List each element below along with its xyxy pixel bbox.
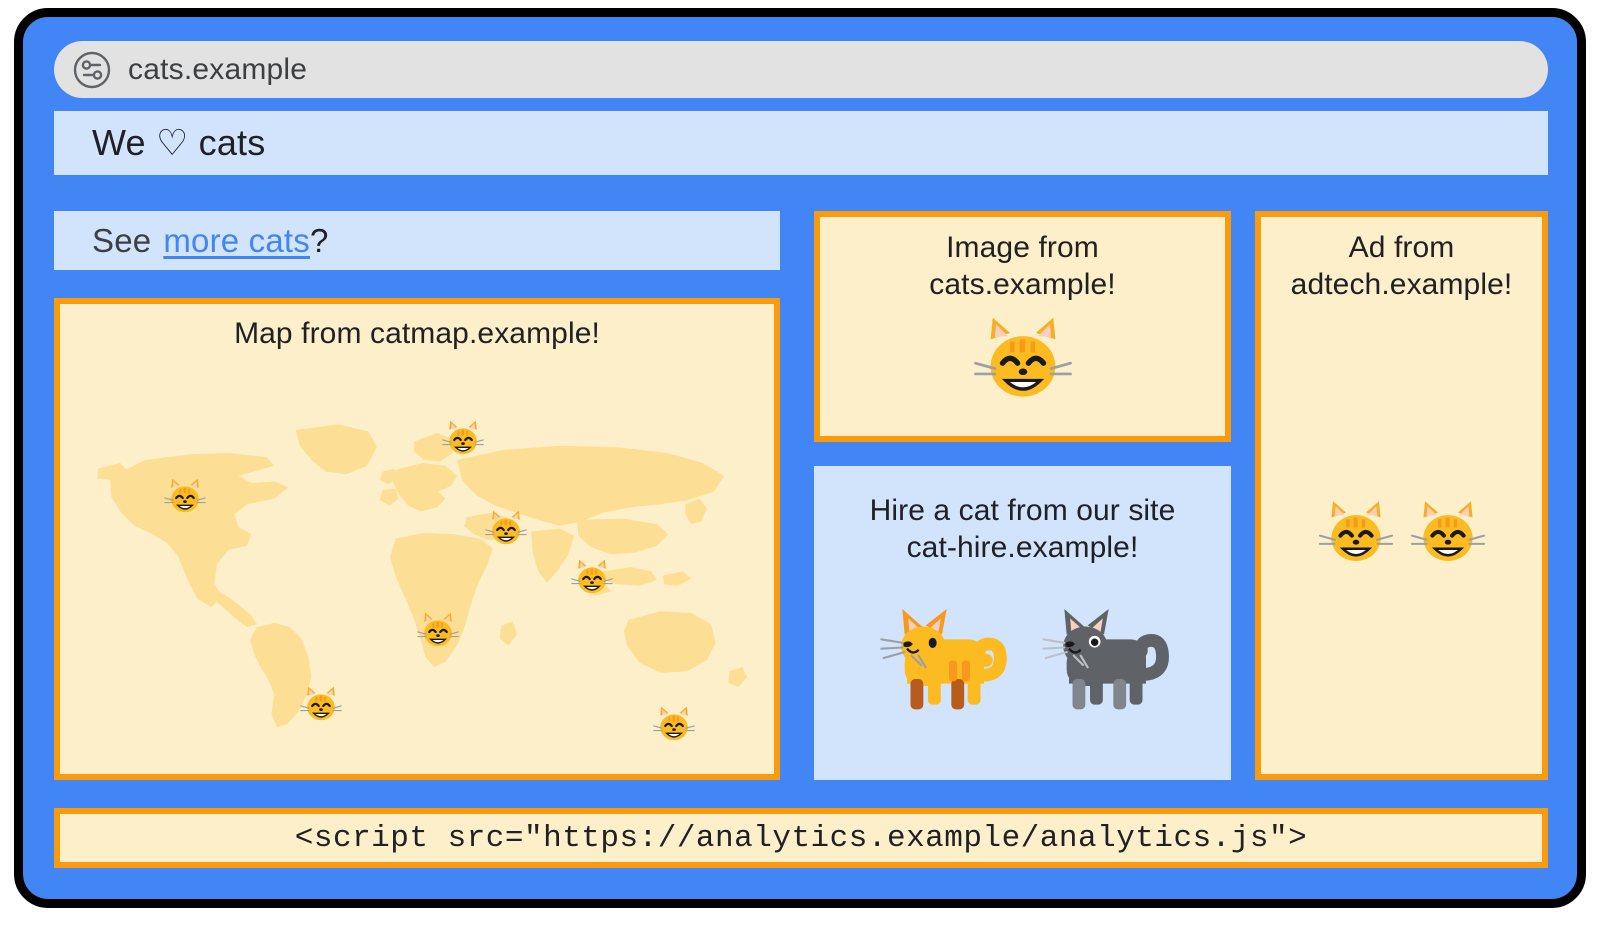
see-more-cats-banner: Seemore cats? (54, 211, 780, 270)
hire-panel-title-line1: Hire a cat from our site (870, 492, 1176, 529)
analytics-script-bar: <script src="https://analytics.example/a… (54, 808, 1548, 868)
map-marker-cat[interactable] (483, 506, 529, 552)
map-marker-cat[interactable] (162, 474, 208, 520)
map-marker-cat[interactable] (298, 682, 344, 728)
script-tag-code: <script src="https://analytics.example/a… (295, 821, 1307, 856)
map-marker-cat[interactable] (415, 608, 461, 654)
grey-cat-icon (1034, 588, 1174, 728)
map-marker-cat[interactable] (569, 555, 615, 601)
link-prefix-label: See (92, 222, 151, 260)
image-panel-title-line1: Image from (929, 229, 1115, 266)
url-text[interactable]: cats.example (128, 55, 307, 85)
headline-banner: We ♡ cats (54, 111, 1548, 175)
ad-panel[interactable]: Ad from adtech.example! (1255, 211, 1548, 780)
ad-cats-row (1261, 493, 1542, 575)
image-panel[interactable]: Image from cats.example! (814, 211, 1231, 442)
more-cats-link[interactable]: more cats (163, 222, 310, 260)
image-panel-title-line2: cats.example! (929, 266, 1115, 303)
hire-panel[interactable]: Hire a cat from our site cat-hire.exampl… (814, 466, 1231, 780)
hire-panel-title-line2: cat-hire.example! (870, 529, 1176, 566)
map-panel[interactable]: Map from catmap.example! (54, 298, 780, 780)
map-marker-cat[interactable] (440, 416, 486, 462)
browser-window: cats.example We ♡ cats Seemore cats? Map… (14, 8, 1586, 908)
hire-cats-row (872, 588, 1174, 728)
tune-icon[interactable] (72, 50, 112, 90)
world-map[interactable] (60, 366, 774, 774)
ad-panel-title: Ad from adtech.example! (1291, 229, 1513, 303)
page-headline: We ♡ cats (92, 122, 265, 164)
ad-panel-title-line2: adtech.example! (1291, 266, 1513, 303)
grinning-cat-icon (1315, 493, 1397, 575)
url-bar[interactable]: cats.example (54, 41, 1548, 98)
image-panel-title: Image from cats.example! (929, 229, 1115, 303)
grinning-cat-icon (969, 307, 1077, 415)
map-panel-title: Map from catmap.example! (60, 315, 774, 352)
link-suffix-label: ? (310, 222, 329, 260)
map-marker-cat[interactable] (651, 702, 697, 748)
grinning-cat-icon (1407, 493, 1489, 575)
orange-cat-icon (872, 588, 1012, 728)
ad-panel-title-line1: Ad from (1291, 229, 1513, 266)
hire-panel-title: Hire a cat from our site cat-hire.exampl… (870, 492, 1176, 566)
